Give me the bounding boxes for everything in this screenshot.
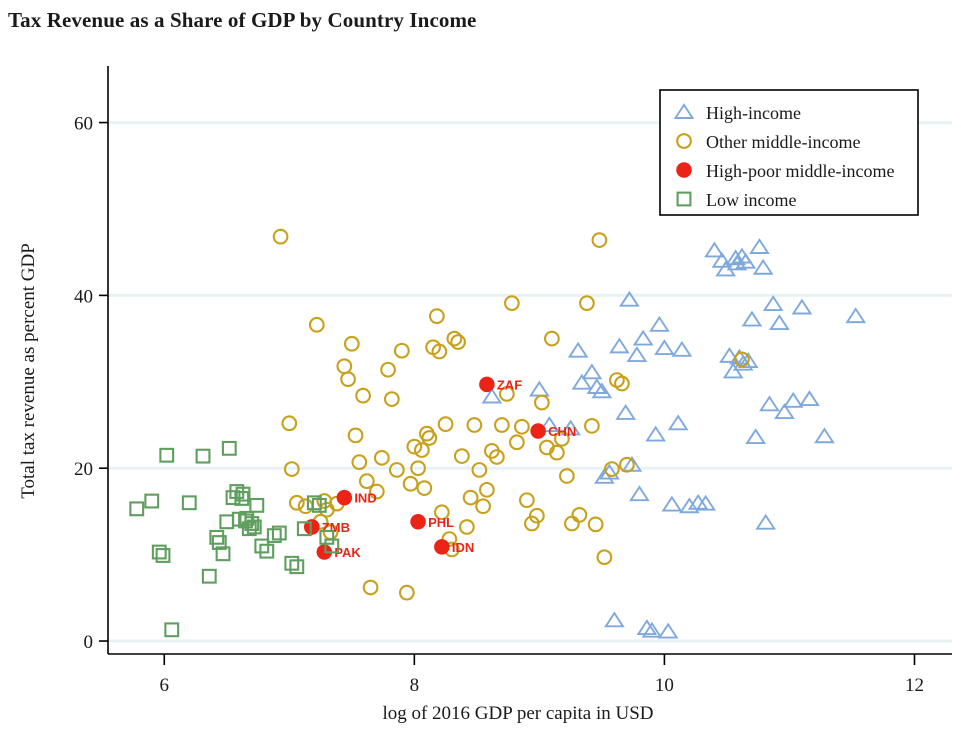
series-high-income [483,240,864,638]
data-point [531,382,548,395]
data-point [220,515,233,528]
data-point [153,546,166,559]
data-point [130,502,143,515]
legend-label-2[interactable]: High-poor middle-income [706,161,894,181]
data-point [473,463,487,477]
data-point [670,416,687,429]
data-point [535,396,549,410]
point-label-CHN: CHN [548,424,576,439]
data-point [617,406,634,419]
data-point [545,332,559,346]
chart-page: Tax Revenue as a Share of GDP by Country… [0,0,961,736]
data-point [183,496,196,509]
data-point [743,312,760,325]
data-point [395,344,409,358]
legend-marker-2[interactable] [677,163,692,178]
data-point [663,497,680,510]
data-point [660,624,677,637]
data-point [793,300,810,313]
data-point [647,427,664,440]
x-tick-label-10: 10 [655,675,674,696]
data-point [285,557,298,570]
data-point [385,392,399,406]
data-point [337,490,352,505]
data-point [589,518,603,532]
data-point [338,359,352,373]
data-point [476,499,490,513]
data-point [290,496,304,510]
data-point [451,335,465,349]
series-other-middle-income [274,230,749,600]
y-tick-label-60: 60 [74,114,93,135]
data-point [505,296,519,310]
data-point [423,431,437,445]
legend-label-0[interactable]: High-income [706,103,801,123]
data-point [757,515,774,528]
data-point [418,481,432,495]
data-point [203,570,216,583]
data-point [381,363,395,377]
data-point [751,240,768,253]
data-point [761,397,778,410]
data-point [785,394,802,407]
data-point [570,344,587,357]
data-point [299,499,313,513]
data-point [771,316,788,329]
data-point [145,495,158,508]
data-point [747,430,764,443]
data-point [439,417,453,431]
data-point [656,341,673,354]
point-label-ZAF: ZAF [497,377,522,392]
data-point [635,331,652,344]
data-point [282,416,296,430]
legend-label-3[interactable]: Low income [706,190,796,210]
data-point [816,429,833,442]
y-axis-title: Total tax revenue as percent GDP [18,243,39,499]
data-point [341,372,355,386]
data-point [274,230,288,244]
legend: High-incomeOther middle-incomeHigh-poor … [660,90,918,215]
data-point [560,469,574,483]
data-point [480,483,494,497]
data-point [404,477,418,491]
point-label-IDN: IDN [452,540,474,555]
data-point [611,339,628,352]
data-point [631,487,648,500]
data-point [260,545,273,558]
data-point [157,549,170,562]
data-point [606,613,623,626]
data-point [250,499,263,512]
data-point [765,297,782,310]
data-point [435,540,450,555]
x-axis-title: log of 2016 GDP per capita in USD [382,703,653,724]
point-label-PHL: PHL [428,515,454,530]
data-point [455,449,469,463]
x-tick-label-12: 12 [905,675,924,696]
data-point [223,442,236,455]
data-point [430,309,444,323]
x-tick-label-6: 6 [160,675,170,696]
data-point [290,560,303,573]
scatter-plot: 0204060681012log of 2016 GDP per capita … [0,0,961,736]
data-point [673,343,690,356]
data-point [345,337,359,351]
data-point [495,418,509,432]
legend-label-1[interactable]: Other middle-income [706,132,860,152]
data-point [320,503,334,517]
data-point [165,623,178,636]
data-point [349,429,363,443]
data-point [480,377,495,392]
data-point [448,332,462,346]
series-low-income [130,442,338,636]
data-point [460,520,474,534]
data-point [310,318,324,332]
y-tick-label-40: 40 [74,286,93,307]
data-point [573,508,587,522]
point-label-ZMB: ZMB [322,520,350,535]
data-point [160,449,173,462]
data-point [464,491,478,505]
data-point [390,463,404,477]
x-tick-label-8: 8 [410,675,420,696]
y-tick-label-20: 20 [74,459,93,480]
data-point [375,451,389,465]
data-point [510,435,524,449]
data-point [364,581,378,595]
point-label-IND: IND [354,491,376,506]
data-point [520,493,534,507]
data-point [598,550,612,564]
data-point [197,450,210,463]
data-point [531,424,546,439]
data-point [628,348,645,361]
data-point [755,261,772,274]
data-point [593,233,607,247]
data-point [468,418,482,432]
data-point [847,309,864,322]
data-point [356,389,370,403]
data-point [580,296,594,310]
data-point [255,540,268,553]
data-point [583,365,600,378]
data-point [651,318,668,331]
data-point [801,392,818,405]
data-point [411,515,426,530]
data-point [585,419,599,433]
data-point [565,517,579,531]
data-point [515,420,529,434]
y-tick-label-0: 0 [84,632,94,653]
data-point [400,586,414,600]
